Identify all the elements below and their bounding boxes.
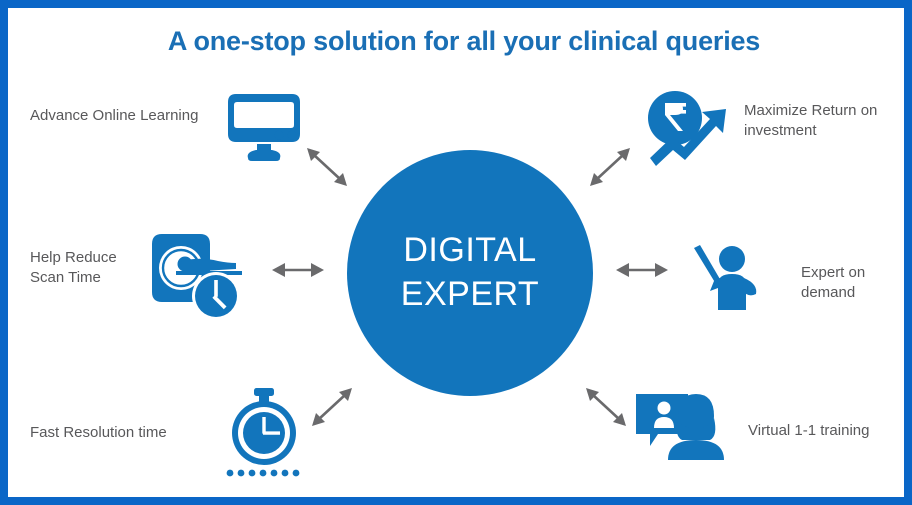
double-headed-arrow-horizontal-icon — [616, 258, 668, 287]
page-title: A one-stop solution for all your clinica… — [8, 26, 912, 57]
label-help-reduce-scan-time: Help Reduce Scan Time — [30, 248, 160, 289]
double-headed-arrow-diagonal-icon — [305, 146, 349, 193]
infographic-canvas: A one-stop solution for all your clinica… — [0, 0, 912, 505]
double-headed-arrow-horizontal-icon — [272, 258, 324, 287]
center-hub-line-1: DIGITAL — [403, 229, 536, 273]
label-maximize-return-on-investment: Maximize Return on investment — [744, 101, 912, 142]
rupee-growth-arrow-icon — [642, 90, 738, 175]
double-headed-arrow-diagonal-icon — [310, 386, 354, 433]
label-expert-on-demand: Expert on demand — [801, 263, 912, 304]
stopwatch-icon — [222, 386, 306, 483]
label-fast-resolution-time: Fast Resolution time — [30, 423, 220, 443]
video-call-person-icon — [634, 390, 730, 467]
ct-scanner-clock-icon — [148, 230, 250, 327]
presenter-person-icon — [688, 244, 774, 319]
label-virtual-1-1-training: Virtual 1-1 training — [748, 421, 912, 441]
double-headed-arrow-diagonal-icon — [588, 146, 632, 193]
label-advance-online-learning: Advance Online Learning — [30, 106, 240, 126]
center-hub-line-2: EXPERT — [401, 273, 539, 317]
monitor-icon — [226, 92, 308, 173]
center-hub-digital-expert: DIGITAL EXPERT — [347, 150, 593, 396]
double-headed-arrow-diagonal-icon — [584, 386, 628, 433]
